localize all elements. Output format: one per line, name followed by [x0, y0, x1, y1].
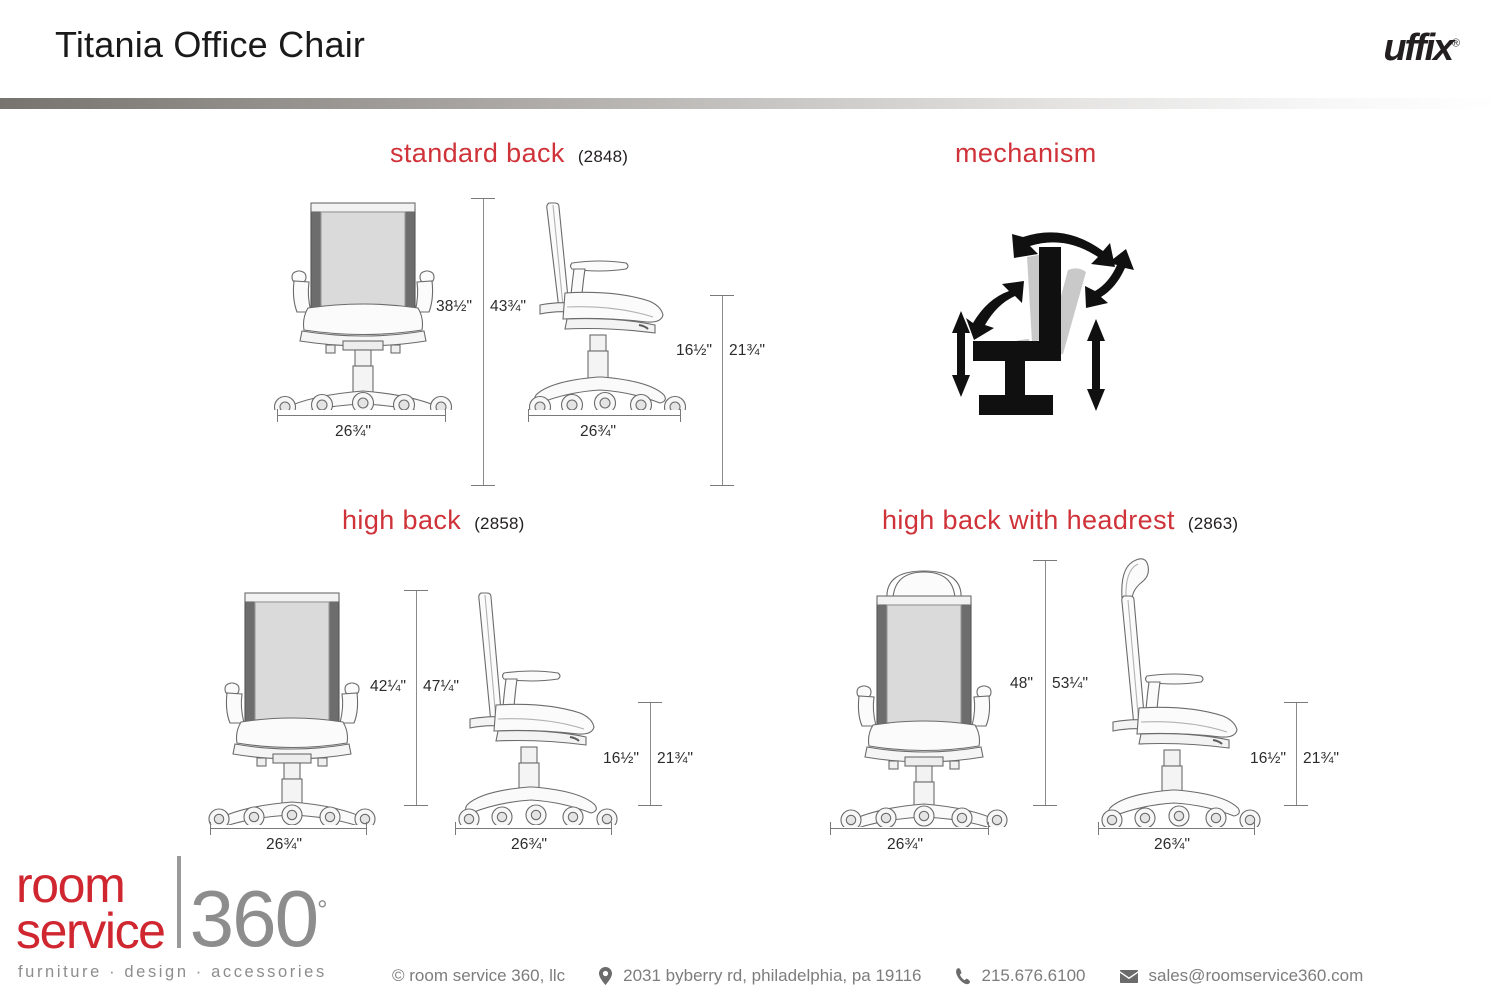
footer-copyright: © room service 360, llc	[392, 966, 565, 986]
panel-title: high back with headrest	[882, 505, 1175, 535]
chair-side-view-standard-back	[527, 195, 692, 410]
dim-height-min-standard: 38½"	[436, 298, 472, 316]
map-pin-icon	[599, 967, 612, 985]
seat-tick-top-standard	[710, 295, 734, 296]
heading-high-back-headrest: high back with headrest(2863)	[882, 505, 1238, 536]
uffix-brand-logo: uffix®	[1383, 27, 1460, 70]
width-tick-right-side-headrest	[1254, 822, 1255, 835]
footer-email[interactable]: sales@roomservice360.com	[1120, 966, 1364, 986]
dim-width-side-standard: 26¾"	[580, 423, 616, 441]
dim-height-max-standard: 43¾"	[490, 298, 526, 316]
page-header: Titania Office Chair uffix®	[0, 0, 1500, 95]
seat-tick-bottom-highback	[638, 805, 662, 806]
width-tick-left-front-standard	[277, 409, 278, 422]
dim-seat-min-standard: 16½"	[676, 342, 712, 360]
phone-icon	[956, 968, 971, 985]
footer-phone[interactable]: 215.676.6100	[956, 966, 1086, 986]
width-line-side-highback	[455, 828, 611, 829]
panel-title: standard back	[390, 138, 565, 168]
heading-mechanism: mechanism	[955, 138, 1097, 169]
dim-seat-min-headrest: 16½"	[1250, 750, 1286, 768]
height-tick-top-highback	[404, 590, 428, 591]
width-tick-right-front-headrest	[988, 822, 989, 835]
seat-divider-standard	[722, 295, 723, 485]
width-tick-right-front-standard	[445, 409, 446, 422]
heading-standard-back: standard back(2848)	[390, 138, 628, 169]
width-line-side-standard	[528, 415, 680, 416]
width-tick-left-side-standard	[528, 409, 529, 422]
width-line-side-headrest	[1098, 828, 1254, 829]
chair-front-view-headrest	[835, 552, 1013, 827]
panel-title: high back	[342, 505, 461, 535]
height-divider-headrest	[1045, 560, 1046, 805]
width-tick-left-side-headrest	[1098, 822, 1099, 835]
page-footer: room service 360° furniture · design · a…	[0, 860, 1500, 1000]
height-tick-top-headrest	[1033, 560, 1057, 561]
dim-seat-max-highback: 21¾"	[657, 750, 693, 768]
height-divider-highback	[416, 590, 417, 805]
registered-trademark-icon: ®	[1452, 37, 1460, 49]
panel-title: mechanism	[955, 138, 1097, 168]
room-service-360-logo: room service 360° furniture · design · a…	[8, 856, 368, 982]
chair-side-view-headrest	[1098, 552, 1270, 827]
dim-seat-max-headrest: 21¾"	[1303, 750, 1339, 768]
width-line-front-standard	[277, 415, 445, 416]
panel-standard-back: standard back(2848)	[0, 110, 760, 460]
seat-tick-bottom-headrest	[1284, 805, 1308, 806]
height-tick-top-standard	[471, 198, 495, 199]
page-title: Titania Office Chair	[55, 24, 365, 66]
width-line-front-headrest	[830, 828, 988, 829]
width-tick-right-side-standard	[680, 409, 681, 422]
width-tick-left-side-highback	[455, 822, 456, 835]
mechanism-diagram	[935, 215, 1145, 420]
chair-front-view-standard-back	[268, 195, 458, 410]
panel-high-back-headrest: high back with headrest(2863)	[760, 480, 1500, 860]
degree-icon: °	[317, 894, 325, 924]
header-divider-bar	[0, 98, 1500, 109]
width-tick-left-front-highback	[210, 822, 211, 835]
footer-address: 2031 byberry rd, philadelphia, pa 19116	[599, 966, 921, 986]
height-tick-bottom-highback	[404, 805, 428, 806]
dim-width-side-headrest: 26¾"	[1154, 836, 1190, 854]
heading-high-back: high back(2858)	[342, 505, 525, 536]
dim-seat-min-highback: 16½"	[603, 750, 639, 768]
chair-side-view-high-back	[455, 585, 627, 825]
width-line-front-highback	[210, 828, 366, 829]
panel-mechanism: mechanism	[760, 110, 1500, 460]
dim-height-min-headrest: 48"	[1010, 675, 1033, 693]
logo-divider-bar	[177, 856, 181, 948]
dim-width-front-highback: 26¾"	[266, 836, 302, 854]
width-tick-right-side-highback	[611, 822, 612, 835]
dim-width-front-standard: 26¾"	[335, 423, 371, 441]
logo-word-room: room	[16, 862, 165, 908]
dim-height-max-headrest: 53¼"	[1052, 675, 1088, 693]
panel-code: (2848)	[578, 147, 628, 166]
logo-word-service: service	[16, 908, 165, 954]
dim-width-front-headrest: 26¾"	[887, 836, 923, 854]
dim-height-max-highback: 47¼"	[423, 678, 459, 696]
envelope-icon	[1120, 970, 1138, 983]
panel-code: (2863)	[1188, 514, 1238, 533]
seat-divider-headrest	[1296, 702, 1297, 805]
panel-code: (2858)	[474, 514, 524, 533]
seat-tick-top-headrest	[1284, 702, 1308, 703]
brand-name: uffix	[1383, 27, 1452, 69]
width-tick-left-front-headrest	[830, 822, 831, 835]
dim-height-min-highback: 42¼"	[370, 678, 406, 696]
panel-high-back: high back(2858)	[0, 480, 760, 860]
footer-contact-bar: © room service 360, llc 2031 byberry rd,…	[392, 966, 1363, 986]
height-tick-bottom-headrest	[1033, 805, 1057, 806]
dim-width-side-highback: 26¾"	[511, 836, 547, 854]
height-divider-standard	[483, 198, 484, 485]
logo-360: 360°	[190, 884, 326, 954]
seat-divider-highback	[650, 702, 651, 805]
width-tick-right-front-highback	[366, 822, 367, 835]
chair-front-view-high-back	[203, 585, 381, 825]
seat-tick-top-highback	[638, 702, 662, 703]
